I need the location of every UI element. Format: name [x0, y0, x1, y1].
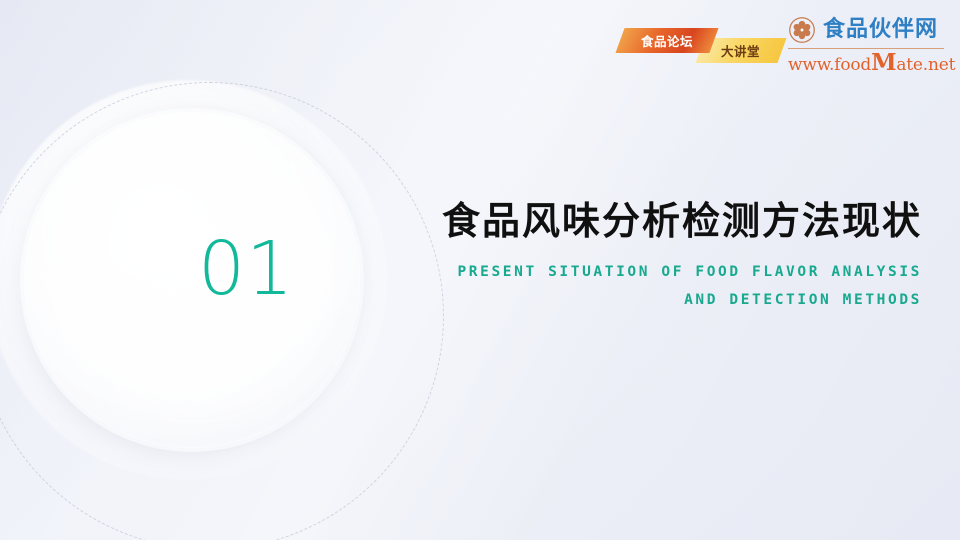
- banner-forum-label: 食品论坛: [641, 31, 693, 50]
- presentation-slide: 01 食品风味分析检测方法现状 PRESENT SITUATION OF FOO…: [0, 0, 960, 540]
- subtitle-line-1: PRESENT SITUATION OF FOOD FLAVOR ANALYSI…: [362, 258, 922, 286]
- banner-forum: 食品论坛: [615, 28, 718, 53]
- decorative-circle-outer-glow: [0, 80, 388, 480]
- page-title: 食品风味分析检测方法现状: [362, 198, 922, 246]
- logo-url-suffix: ate.net: [896, 55, 955, 75]
- banner-lecture-label: 大讲堂: [721, 41, 760, 60]
- brand-header: 大讲堂 食品论坛: [614, 14, 944, 70]
- flower-icon: [788, 16, 816, 44]
- site-logo: 食品伙伴网 www.foodMate.net: [788, 14, 944, 70]
- logo-url-capital: M: [871, 49, 896, 76]
- section-number: 01: [198, 232, 294, 306]
- logo-name-cn: 食品伙伴网: [823, 19, 938, 41]
- subtitle-english: PRESENT SITUATION OF FOOD FLAVOR ANALYSI…: [362, 258, 922, 315]
- logo-url: www.foodMate.net: [788, 50, 944, 75]
- decorative-circle-shadow: [20, 108, 364, 452]
- logo-url-prefix: www.food: [788, 55, 871, 75]
- title-block: 食品风味分析检测方法现状 PRESENT SITUATION OF FOOD F…: [362, 198, 922, 314]
- subtitle-line-2: AND DETECTION METHODS: [362, 286, 922, 314]
- decorative-circle-ring-1: [24, 112, 360, 448]
- logo-top-row: 食品伙伴网: [788, 14, 944, 46]
- logo-divider: [788, 48, 944, 49]
- banner-group: 大讲堂 食品论坛: [614, 14, 782, 70]
